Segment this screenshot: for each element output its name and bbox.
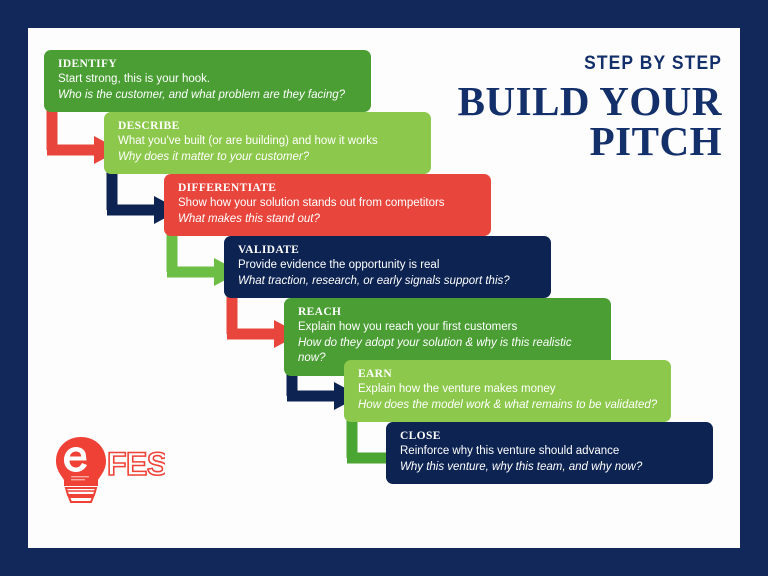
step-description: Explain how you reach your first custome… bbox=[298, 320, 599, 336]
step-card-validate[interactable]: VALIDATE Provide evidence the opportunit… bbox=[224, 236, 551, 298]
step-description: Provide evidence the opportunity is real bbox=[238, 258, 539, 274]
page-title: BUILD YOUR PITCH bbox=[422, 81, 722, 161]
step-question: Why this venture, why this team, and why… bbox=[400, 460, 701, 476]
efest-logo: FEST bbox=[50, 433, 165, 505]
step-question: Who is the customer, and what problem ar… bbox=[58, 88, 359, 104]
step-card-differentiate[interactable]: DIFFERENTIATE Show how your solution sta… bbox=[164, 174, 491, 236]
poster-canvas: STEP BY STEP BUILD YOUR PITCH bbox=[28, 28, 740, 548]
step-title: DIFFERENTIATE bbox=[178, 181, 479, 195]
step-card-close[interactable]: CLOSE Reinforce why this venture should … bbox=[386, 422, 713, 484]
step-card-earn[interactable]: EARN Explain how the venture makes money… bbox=[344, 360, 671, 422]
step-description: Reinforce why this venture should advanc… bbox=[400, 444, 701, 460]
step-description: Start strong, this is your hook. bbox=[58, 72, 359, 88]
step-question: What traction, research, or early signal… bbox=[238, 274, 539, 290]
step-title: IDENTIFY bbox=[58, 57, 359, 71]
title-line-1: BUILD YOUR bbox=[458, 78, 722, 124]
step-card-describe[interactable]: DESCRIBE What you've built (or are build… bbox=[104, 112, 431, 174]
step-description: Explain how the venture makes money bbox=[358, 382, 659, 398]
step-title: REACH bbox=[298, 305, 599, 319]
title-kicker: STEP BY STEP bbox=[446, 54, 722, 75]
title-block: STEP BY STEP BUILD YOUR PITCH bbox=[422, 54, 722, 161]
efest-wordmark: FEST bbox=[107, 446, 165, 482]
title-line-2: PITCH bbox=[422, 121, 722, 161]
step-title: EARN bbox=[358, 367, 659, 381]
step-title: VALIDATE bbox=[238, 243, 539, 257]
step-question: What makes this stand out? bbox=[178, 212, 479, 228]
poster-frame: STEP BY STEP BUILD YOUR PITCH bbox=[0, 0, 768, 576]
step-card-identify[interactable]: IDENTIFY Start strong, this is your hook… bbox=[44, 50, 371, 112]
step-question: Why does it matter to your customer? bbox=[118, 150, 419, 166]
lightbulb-icon: FEST bbox=[50, 433, 165, 505]
step-title: CLOSE bbox=[400, 429, 701, 443]
step-question: How does the model work & what remains t… bbox=[358, 398, 659, 414]
step-description: Show how your solution stands out from c… bbox=[178, 196, 479, 212]
step-title: DESCRIBE bbox=[118, 119, 419, 133]
step-description: What you've built (or are building) and … bbox=[118, 134, 419, 150]
